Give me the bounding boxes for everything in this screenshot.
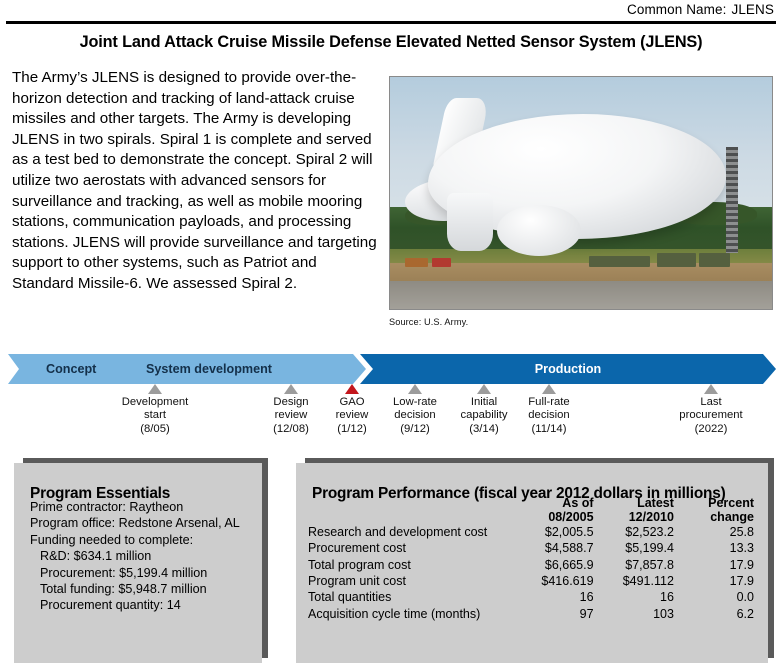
column-header-line2: 12/2010	[598, 511, 674, 525]
program-essentials-item: Program office: Redstone Arsenal, AL	[30, 515, 258, 531]
photo-tarmac	[390, 281, 772, 309]
row-label: Acquisition cycle time (months)	[308, 606, 517, 622]
table-row: Program unit cost$416.619$491.11217.9	[308, 573, 760, 589]
program-essentials-panel: Program Essentials Prime contractor: Ray…	[14, 463, 262, 663]
aerostat-photo	[389, 76, 773, 310]
cell-as-of: 16	[517, 589, 597, 605]
phase-label-concept: Concept	[46, 354, 96, 384]
row-label: Research and development cost	[308, 524, 517, 540]
milestone-label: Full-ratedecision(11/14)	[489, 396, 609, 436]
timeline-milestone-development-start: Developmentstart(8/05)	[95, 384, 215, 436]
milestone-date: (11/14)	[489, 423, 609, 436]
cell-as-of: $2,005.5	[517, 524, 597, 540]
milestone-marker-icon	[704, 384, 718, 394]
table-header: As of08/2005Latest12/2010Percentchange	[308, 497, 760, 524]
table-column-header: As of08/2005	[517, 497, 597, 524]
table-row: Research and development cost$2,005.5$2,…	[308, 524, 760, 540]
milestone-label-line2: decision	[489, 409, 609, 422]
program-essentials-item: Procurement quantity: 14	[30, 597, 258, 613]
program-description: The Army’s JLENS is designed to provide …	[12, 68, 380, 295]
cell-latest: $2,523.2	[598, 524, 678, 540]
common-name-label: Common Name:	[627, 2, 726, 17]
table-row: Acquisition cycle time (months)971036.2	[308, 606, 760, 622]
column-header-line1: Latest	[598, 497, 674, 511]
milestone-label-line1: Development	[95, 396, 215, 409]
photo-support-vehicle	[405, 258, 428, 267]
cell-as-of: $6,665.9	[517, 557, 597, 573]
cell-latest: 103	[598, 606, 678, 622]
program-essentials-item: Total funding: $5,948.7 million	[30, 581, 258, 597]
milestone-marker-icon	[408, 384, 422, 394]
table-body: Research and development cost$2,005.5$2,…	[308, 524, 760, 622]
photo-support-vehicle	[699, 253, 730, 267]
photo-aerostat-lower-fin	[447, 193, 493, 251]
cell-percent-change: 0.0	[678, 589, 760, 605]
acquisition-timeline: Production Concept System development De…	[0, 352, 782, 448]
table-row: Procurement cost$4,588.7$5,199.413.3	[308, 540, 760, 556]
timeline-phase-bar: Production Concept System development	[8, 354, 776, 384]
cell-percent-change: 6.2	[678, 606, 760, 622]
panel-shadow-right	[768, 458, 774, 658]
table-column-header	[308, 497, 517, 524]
cell-latest: $491.112	[598, 573, 678, 589]
milestone-date: (8/05)	[95, 423, 215, 436]
column-header-line1: As of	[517, 497, 593, 511]
row-label: Procurement cost	[308, 540, 517, 556]
milestone-label: Developmentstart(8/05)	[95, 396, 215, 436]
panel-shadow-right	[262, 458, 268, 658]
page-title: Joint Land Attack Cruise Missile Defense…	[0, 33, 782, 52]
common-name-value: JLENS	[731, 2, 774, 17]
timeline-milestone-last-procurement: Lastprocurement(2022)	[651, 384, 771, 436]
cell-as-of: $4,588.7	[517, 540, 597, 556]
milestone-marker-icon	[542, 384, 556, 394]
milestone-label-line1: Last	[651, 396, 771, 409]
header-divider	[6, 21, 776, 24]
column-header-line2: change	[678, 511, 754, 525]
cell-as-of: 97	[517, 606, 597, 622]
row-label: Total quantities	[308, 589, 517, 605]
milestone-marker-icon	[148, 384, 162, 394]
program-essentials-item: Procurement: $5,199.4 million	[30, 565, 258, 581]
milestone-date: (2022)	[651, 423, 771, 436]
photo-support-vehicle	[657, 253, 695, 267]
phase-label-production: Production	[360, 362, 776, 376]
table-header-row: As of08/2005Latest12/2010Percentchange	[308, 497, 760, 524]
table-column-header: Latest12/2010	[598, 497, 678, 524]
cell-as-of: $416.619	[517, 573, 597, 589]
page-header: Common Name:JLENS	[0, 0, 782, 22]
cell-latest: $7,857.8	[598, 557, 678, 573]
cell-percent-change: 25.8	[678, 524, 760, 540]
row-label: Program unit cost	[308, 573, 517, 589]
cell-percent-change: 13.3	[678, 540, 760, 556]
cell-latest: 16	[598, 589, 678, 605]
milestone-label-line1: Full-rate	[489, 396, 609, 409]
program-essentials-item: R&D: $634.1 million	[30, 548, 258, 564]
timeline-milestone-full-rate-decision: Full-ratedecision(11/14)	[489, 384, 609, 436]
cell-percent-change: 17.9	[678, 557, 760, 573]
photo-mooring-station	[589, 256, 650, 268]
panel-shadow-top	[23, 458, 268, 463]
milestone-label: Lastprocurement(2022)	[651, 396, 771, 436]
row-label: Total program cost	[308, 557, 517, 573]
common-name: Common Name:JLENS	[627, 2, 774, 17]
table-row: Total program cost$6,665.9$7,857.817.9	[308, 557, 760, 573]
program-essentials-list: Prime contractor: RaytheonProgram office…	[30, 499, 258, 614]
milestone-label-line2: start	[95, 409, 215, 422]
photo-source-caption: Source: U.S. Army.	[389, 317, 773, 327]
column-header-line2: 08/2005	[517, 511, 593, 525]
milestone-label-line2: procurement	[651, 409, 771, 422]
cell-percent-change: 17.9	[678, 573, 760, 589]
panel-shadow-top	[305, 458, 774, 463]
timeline-phase-production: Production	[360, 354, 776, 384]
cell-latest: $5,199.4	[598, 540, 678, 556]
table-row: Total quantities16160.0	[308, 589, 760, 605]
table-column-header: Percentchange	[678, 497, 760, 524]
photo-aerostat-radar-payload	[497, 205, 581, 256]
program-performance-table: As of08/2005Latest12/2010Percentchange R…	[308, 497, 760, 622]
photo-mooring-mast	[726, 147, 737, 254]
column-header-line1: Percent	[678, 497, 754, 511]
phase-label-system-development: System development	[146, 354, 272, 384]
photo-support-vehicle	[432, 258, 451, 267]
program-photo-figure: Source: U.S. Army.	[389, 76, 773, 327]
program-essentials-item: Funding needed to complete:	[30, 532, 258, 548]
program-essentials-item: Prime contractor: Raytheon	[30, 499, 258, 515]
program-performance-panel: Program Performance (fiscal year 2012 do…	[296, 463, 768, 663]
